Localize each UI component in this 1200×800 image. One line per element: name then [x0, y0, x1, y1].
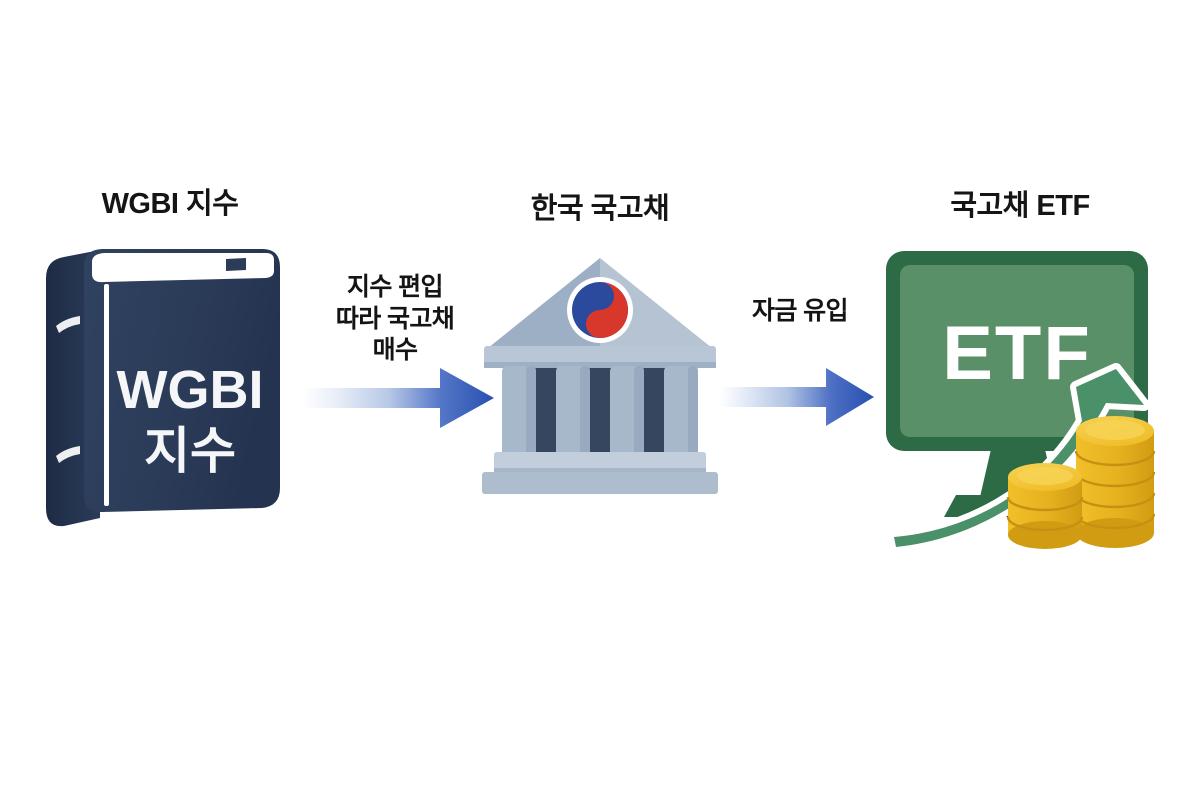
- node-title-korea-treasury-bond: 한국 국고채: [480, 195, 720, 224]
- coin-stack-front: [1008, 463, 1082, 549]
- monitor-screen-text: ETF: [942, 311, 1092, 396]
- node-treasury-etf[interactable]: ETF: [880, 245, 1170, 555]
- node-title-treasury-etf: 국고채 ETF: [890, 192, 1150, 221]
- arrow-index-to-bond: [300, 366, 496, 430]
- bank-building-icon: [480, 252, 720, 500]
- book-pages-top: [92, 253, 274, 282]
- diagram-canvas: WGBI 지수: [0, 0, 1200, 800]
- taegeuk-icon: [567, 277, 633, 343]
- book-cover-text-line2: 지수: [144, 423, 236, 479]
- node-wgbi-index[interactable]: WGBI 지수: [40, 240, 300, 530]
- right-arrow-icon: [718, 366, 876, 428]
- book-cover-text-line1: WGBI: [117, 360, 264, 420]
- node-korea-treasury-bond[interactable]: [480, 252, 720, 500]
- coin-stack-back: [1076, 416, 1154, 548]
- book-edge-line: [104, 284, 109, 506]
- monitor-icon: ETF: [880, 245, 1170, 555]
- book-icon: WGBI 지수: [40, 240, 300, 530]
- arrow-label-bond-to-etf: 자금 유입: [715, 296, 885, 328]
- arrow-bond-to-etf: [718, 366, 876, 428]
- right-arrow-icon: [300, 366, 496, 430]
- book-page-notch: [226, 258, 246, 271]
- bank-plinth-lower: [482, 472, 718, 494]
- node-title-wgbi: WGBI 지수: [40, 190, 300, 219]
- arrow-label-index-to-bond: 지수 편입 따라 국고채 매수: [300, 272, 490, 367]
